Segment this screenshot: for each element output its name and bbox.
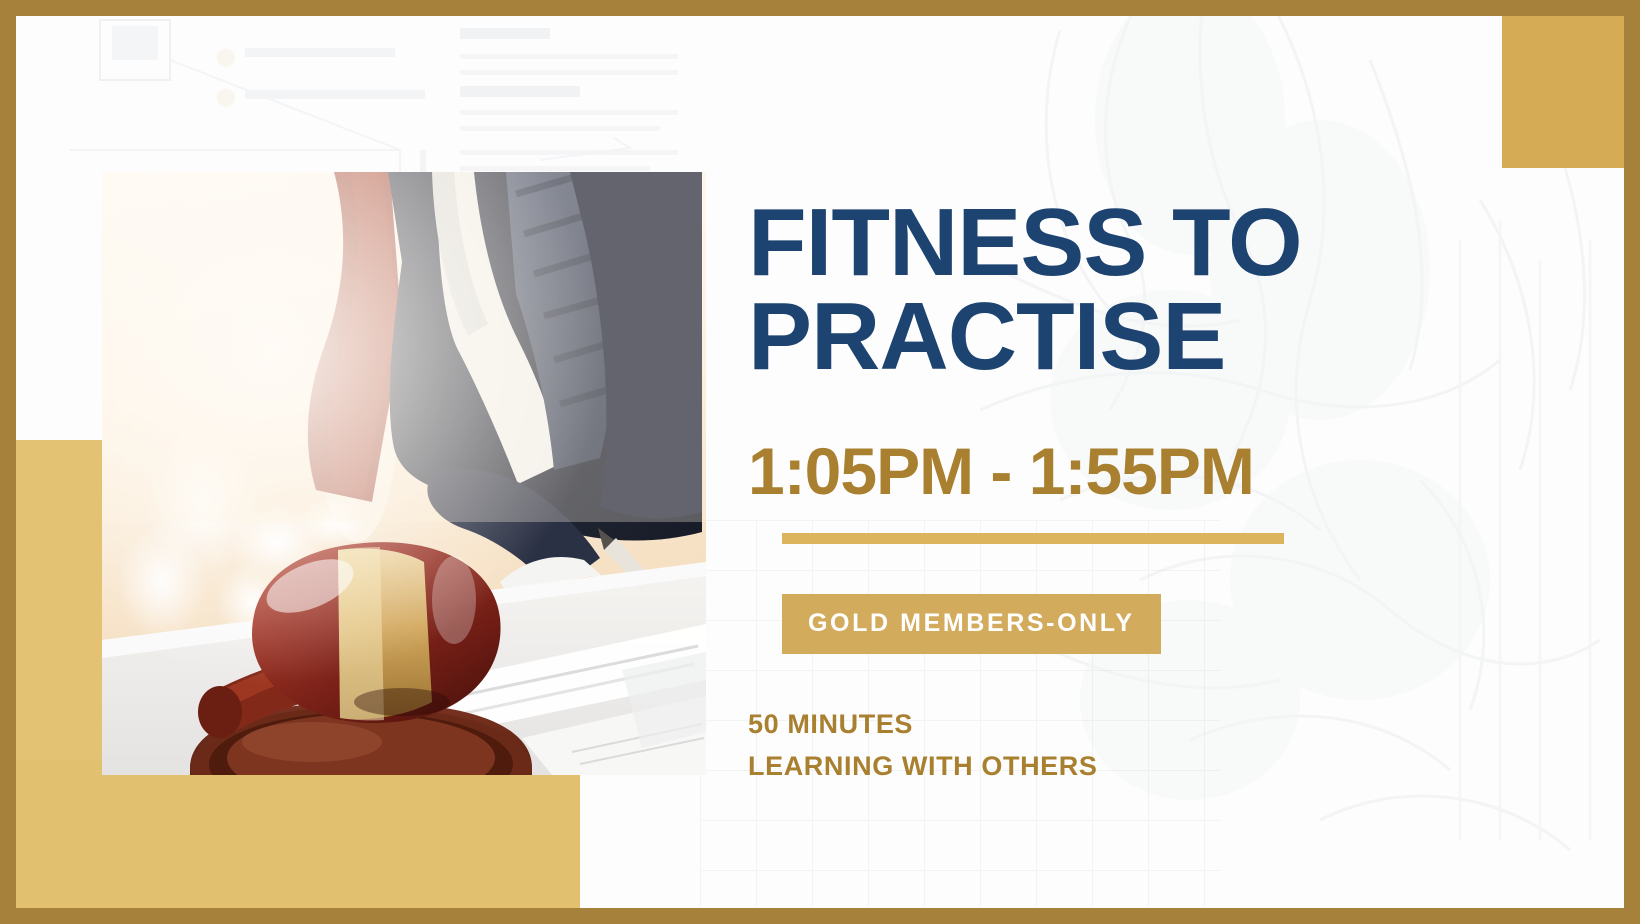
status-badge: GOLD MEMBERS-ONLY	[782, 594, 1161, 654]
page-title: FITNESS TO PRACTISE	[748, 196, 1368, 384]
gold-divider	[782, 533, 1284, 544]
session-time: 1:05PM - 1:55PM	[748, 438, 1368, 504]
event-slide: 5604950 4568230 9502364 1546544 8374607 …	[0, 0, 1640, 924]
session-meta: 50 MINUTES LEARNING WITH OTHERS	[748, 704, 1368, 788]
frame-border-left	[0, 0, 16, 924]
session-duration: 50 MINUTES	[748, 704, 1368, 746]
accent-block-bottom-strip	[16, 760, 580, 908]
accent-block-top-right	[1502, 16, 1624, 168]
title-line-2: PRACTISE	[748, 290, 1368, 384]
title-line-1: FITNESS TO	[748, 196, 1368, 290]
frame-border-right	[1624, 0, 1640, 924]
frame-border-bottom	[0, 908, 1640, 924]
frame-border-top	[0, 0, 1640, 16]
gavel-photo	[102, 172, 706, 775]
event-details: FITNESS TO PRACTISE 1:05PM - 1:55PM GOLD…	[748, 196, 1368, 788]
session-format: LEARNING WITH OTHERS	[748, 746, 1368, 788]
gavel-photo-image	[102, 172, 706, 775]
